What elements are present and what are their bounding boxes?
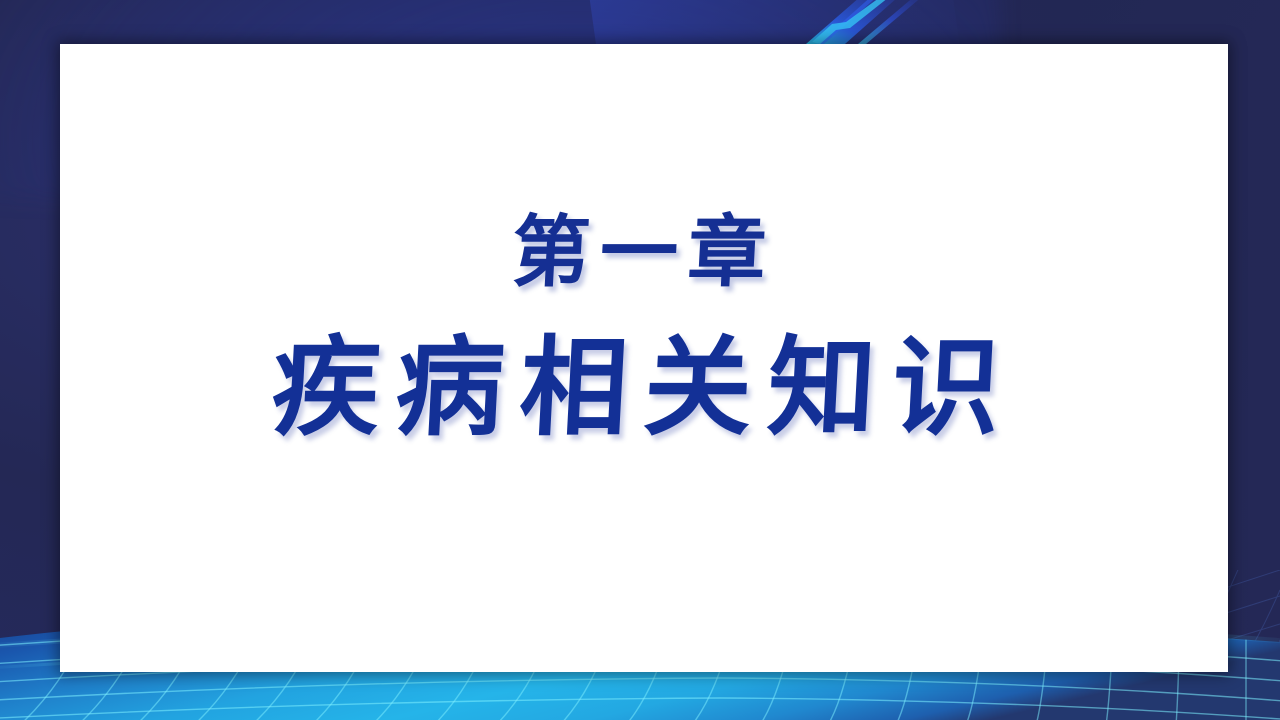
chapter-label: 第一章 xyxy=(58,214,1230,292)
section-title: 疾病相关知识 xyxy=(57,334,1231,442)
content-card: 第一章 疾病相关知识 xyxy=(60,44,1228,672)
title-block: 第一章 疾病相关知识 xyxy=(60,214,1228,442)
slide-canvas: 第一章 疾病相关知识 xyxy=(0,0,1280,720)
